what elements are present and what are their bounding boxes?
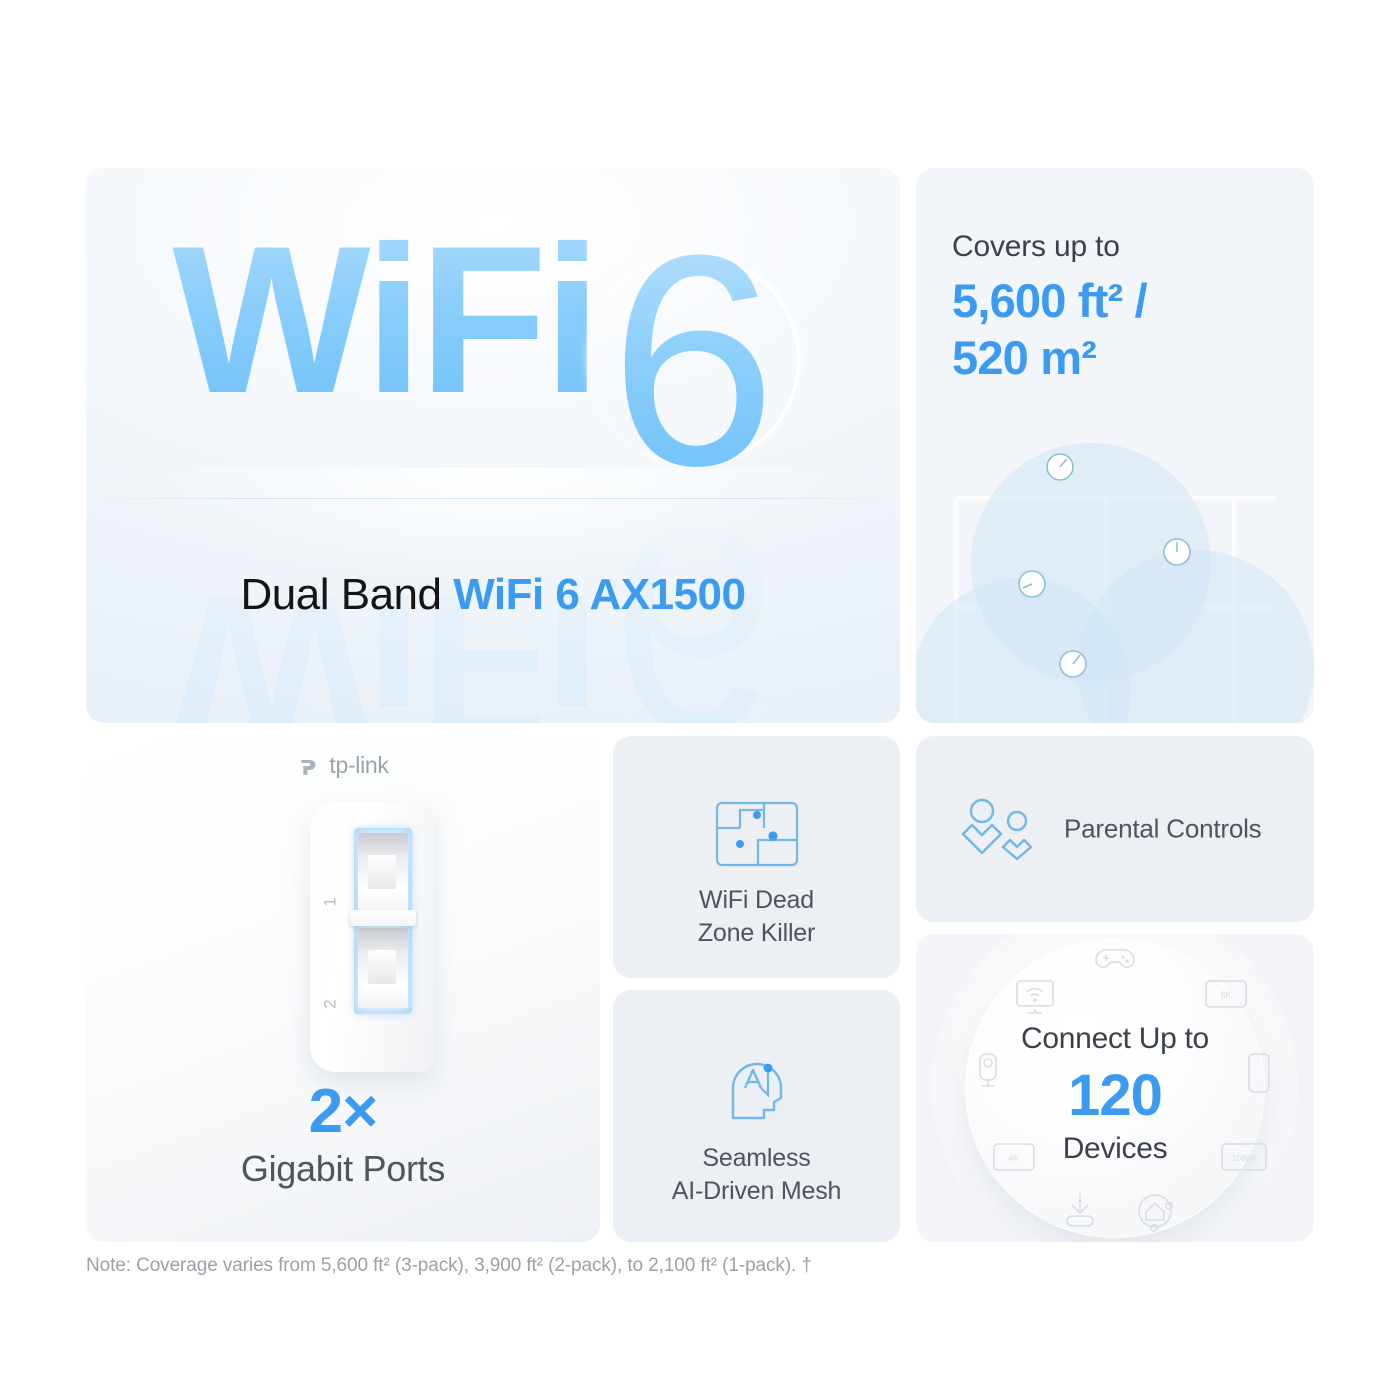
- devices-count: 120: [916, 1062, 1314, 1129]
- coverage-card: Covers up to 5,600 ft² / 520 m²: [916, 168, 1314, 723]
- ethernet-jack-1-icon: [358, 833, 408, 913]
- hero-wifi6-card: WiFi 6 WiFi 6 Dual Band WiFi 6 AX1500: [86, 168, 900, 723]
- router-ethernet-ports-photo: tp-link 1 2: [86, 736, 600, 1086]
- mesh-node-marker-1-icon: [1044, 451, 1076, 483]
- wifi6-logo: WiFi 6: [86, 220, 900, 490]
- port-label-1: 1: [321, 897, 341, 906]
- wifi6-logo-six: 6: [610, 210, 769, 510]
- feature-label-line1: Seamless: [623, 1142, 890, 1175]
- feature-card-parental-controls: Parental Controls: [916, 736, 1314, 922]
- feature-label-seamless-ai-driven-mesh: Seamless AI-Driven Mesh: [623, 1142, 890, 1208]
- connected-devices-card: 8K 4K 1080P Connect Up to: [916, 934, 1314, 1242]
- ports-count: 2×: [86, 1076, 600, 1147]
- hero-subtitle-plain: Dual Band: [241, 570, 454, 619]
- feature-label-line2: Zone Killer: [623, 917, 890, 950]
- coverage-heading: Covers up to: [952, 230, 1294, 264]
- port-label-2: 2: [321, 999, 341, 1008]
- router-body: 1 2: [310, 802, 434, 1072]
- jack-divider: [350, 910, 416, 926]
- devices-bottom-label: Devices: [916, 1132, 1314, 1166]
- tplink-logo: tp-link: [297, 752, 388, 779]
- smart-home-icon: [1134, 1190, 1176, 1232]
- mesh-node-marker-3-icon: [1016, 568, 1048, 600]
- coverage-value-line1: 5,600 ft² /: [952, 272, 1298, 329]
- tplink-logo-text: tp-link: [329, 752, 388, 779]
- wifi6-logo-six-wrap: 6: [604, 220, 814, 490]
- floor-plan-icon: [714, 798, 800, 870]
- ethernet-jack-2-icon: [358, 928, 408, 1008]
- gamepad-icon: [1094, 944, 1136, 974]
- devices-top-label: Connect Up to: [916, 1022, 1314, 1056]
- hero-floor-line: [86, 498, 900, 499]
- footnote: Note: Coverage varies from 5,600 ft² (3-…: [86, 1255, 1316, 1277]
- tplink-mark-icon: [297, 753, 323, 779]
- download-icon: [1062, 1190, 1098, 1230]
- feature-card-seamless-ai-driven-mesh: Seamless AI-Driven Mesh: [613, 990, 900, 1242]
- hero-subtitle-accent: WiFi 6 AX1500: [453, 570, 745, 619]
- screen-8k-icon: 8K: [1204, 979, 1248, 1013]
- feature-label-line2: AI-Driven Mesh: [623, 1175, 890, 1208]
- mesh-node-marker-2-icon: [1161, 536, 1193, 568]
- ports-caption: Gigabit Ports: [86, 1148, 600, 1190]
- two-people-icon: [960, 796, 1042, 862]
- monitor-wifi-icon: [1014, 978, 1056, 1016]
- hero-subtitle: Dual Band WiFi 6 AX1500: [86, 570, 900, 620]
- ai-head-icon: [721, 1048, 793, 1126]
- coverage-value: 5,600 ft² / 520 m²: [952, 272, 1298, 387]
- feature-label-wifi-dead-zone-killer: WiFi Dead Zone Killer: [623, 884, 890, 950]
- coverage-value-line2: 520 m²: [952, 329, 1298, 386]
- product-feature-grid: WiFi 6 WiFi 6 Dual Band WiFi 6 AX1500: [0, 0, 1400, 1400]
- screen-8k-label: 8K: [1220, 990, 1231, 1000]
- feature-label-line1: WiFi Dead: [623, 884, 890, 917]
- wifi6-logo-text: WiFi: [172, 220, 597, 420]
- parental-controls-label: Parental Controls: [1064, 814, 1261, 845]
- gigabit-ports-card: tp-link 1 2 2× Gigabit Ports: [86, 736, 600, 1242]
- feature-card-wifi-dead-zone-killer: WiFi Dead Zone Killer: [613, 736, 900, 978]
